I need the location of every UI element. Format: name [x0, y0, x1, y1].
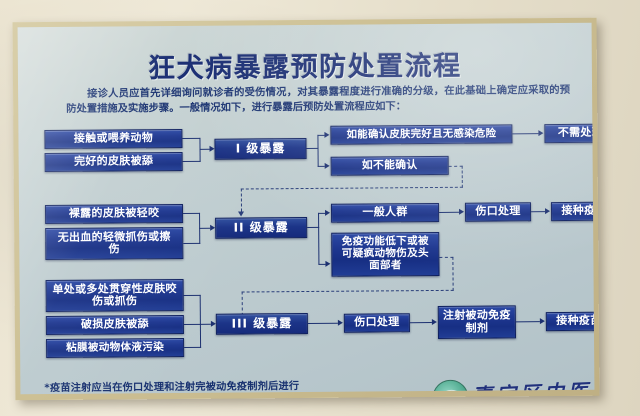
level3-badge: III 级暴露: [216, 313, 308, 335]
footnote: *疫苗注射应当在伤口处理和注射完被动免疫制剂后进行: [44, 377, 299, 394]
conn-l2-c2-h: [183, 243, 200, 245]
arrow-to-l2-vax: [545, 208, 550, 214]
dash-l2b2-down: [452, 257, 453, 291]
arrow-to-l3-vax: [540, 318, 545, 324]
hospital-name: 嘉定区中医医院: [471, 374, 594, 394]
level3-cause-3: 粘膜被动物体液污染: [46, 338, 184, 358]
dash-l1b2-top: [449, 166, 463, 167]
level3-step-2: 注射被动免疫制剂: [438, 305, 516, 339]
dash-l1b2-left: [241, 187, 463, 190]
level2-step-2: 接种疫苗: [551, 202, 594, 222]
conn-l2-wound-to-vax: [531, 211, 545, 213]
dash-l2b2-left: [242, 290, 454, 293]
level3-step-3: 接种疫苗: [546, 312, 595, 332]
dash-l1b2-to-l2: [241, 189, 242, 212]
conn-l1-c1-h: [182, 138, 200, 140]
conn-l2-b1-to-wound: [439, 212, 459, 214]
hospital-logo-icon: [432, 380, 468, 395]
conn-l1-branch1-h: [317, 135, 324, 136]
level1-cause-2: 完好的皮肤被舔: [45, 152, 183, 172]
arrow-to-no-treatment: [538, 130, 543, 136]
arrow-to-l2-branch1: [325, 210, 330, 216]
conn-l3-ig-to-vax: [516, 321, 540, 323]
level2-cause-2: 无出血的轻微抓伤或擦伤: [45, 227, 183, 260]
conn-l2-branch1-h: [318, 213, 325, 214]
level2-branch-1: 一般人群: [331, 203, 439, 223]
conn-l1-branch2-h: [318, 166, 325, 167]
intro-paragraph: 接诊人员应首先详细询问就诊者的受伤情况，对其暴露程度进行准确的分级，在此基础上确…: [66, 83, 570, 117]
conn-l2-branch2-h: [318, 264, 325, 265]
conn-l2-split-v: [318, 213, 320, 265]
arrow-to-l3-wound: [338, 320, 343, 326]
arrow-to-l1-branch2: [325, 163, 330, 169]
arrow-to-l2-branch2: [325, 261, 330, 267]
conn-l3-c3-h: [184, 347, 201, 349]
level3-step-1: 伤口处理: [344, 313, 410, 333]
level1-badge: I 级暴露: [214, 138, 306, 160]
conn-l3-merge-v: [200, 295, 202, 348]
dash-l1b2-down: [462, 166, 463, 188]
dash-l2b2-top: [439, 257, 453, 258]
conn-l1-merge-h: [200, 149, 210, 150]
page-title: 狂犬病暴露预防处置流程: [18, 43, 592, 87]
conn-l2-c1-h: [183, 213, 200, 215]
sign-frame: 狂犬病暴露预防处置流程 接诊人员应首先详细询问就诊者的受伤情况，对其暴露程度进行…: [13, 18, 600, 401]
level1-cause-1: 接触或喂养动物: [44, 129, 182, 149]
arrow-to-l3-ig: [432, 319, 437, 325]
level3-cause-2: 破损皮肤被舔: [46, 315, 184, 335]
conn-l1-c2-h: [183, 161, 201, 163]
conn-l3-c2-h: [184, 324, 201, 326]
level3-cause-1: 单处或多处贯穿性皮肤咬伤或抓伤: [46, 279, 184, 312]
level2-step-1: 伤口处理: [465, 202, 531, 222]
conn-l3-c1-h: [184, 295, 201, 297]
hospital-seal: 嘉定区中医医院: [432, 375, 594, 395]
level2-cause-1: 裸露的皮肤被轻咬: [45, 204, 183, 224]
conn-l1-to-outcome: [512, 133, 538, 135]
information-board: 狂犬病暴露预防处置流程 接诊人员应首先详细询问就诊者的受伤情况，对其暴露程度进行…: [18, 23, 595, 394]
level1-branch-1: 如能确认皮肤完好且无感染危险: [330, 124, 512, 144]
level1-outcome: 不需处理: [544, 124, 594, 144]
conn-l1-split-v: [317, 135, 319, 167]
level2-branch-2: 免疫功能低下或被可疑疯动物伤及头面部者: [331, 232, 439, 277]
conn-l3-wound-to-ig: [410, 322, 432, 324]
conn-l2-merge-h: [199, 228, 210, 229]
seal-ring-icon: [438, 390, 464, 394]
level1-branch-2: 如不能确认: [331, 156, 449, 176]
arrow-to-l1-branch1: [324, 132, 329, 138]
arrow-dash-to-level2: [238, 211, 244, 216]
level2-badge: II 级暴露: [215, 217, 307, 239]
arrow-to-l2-wound: [459, 209, 464, 215]
conn-l3-to-wound: [308, 323, 338, 325]
conn-l3-merge-h: [200, 324, 211, 325]
